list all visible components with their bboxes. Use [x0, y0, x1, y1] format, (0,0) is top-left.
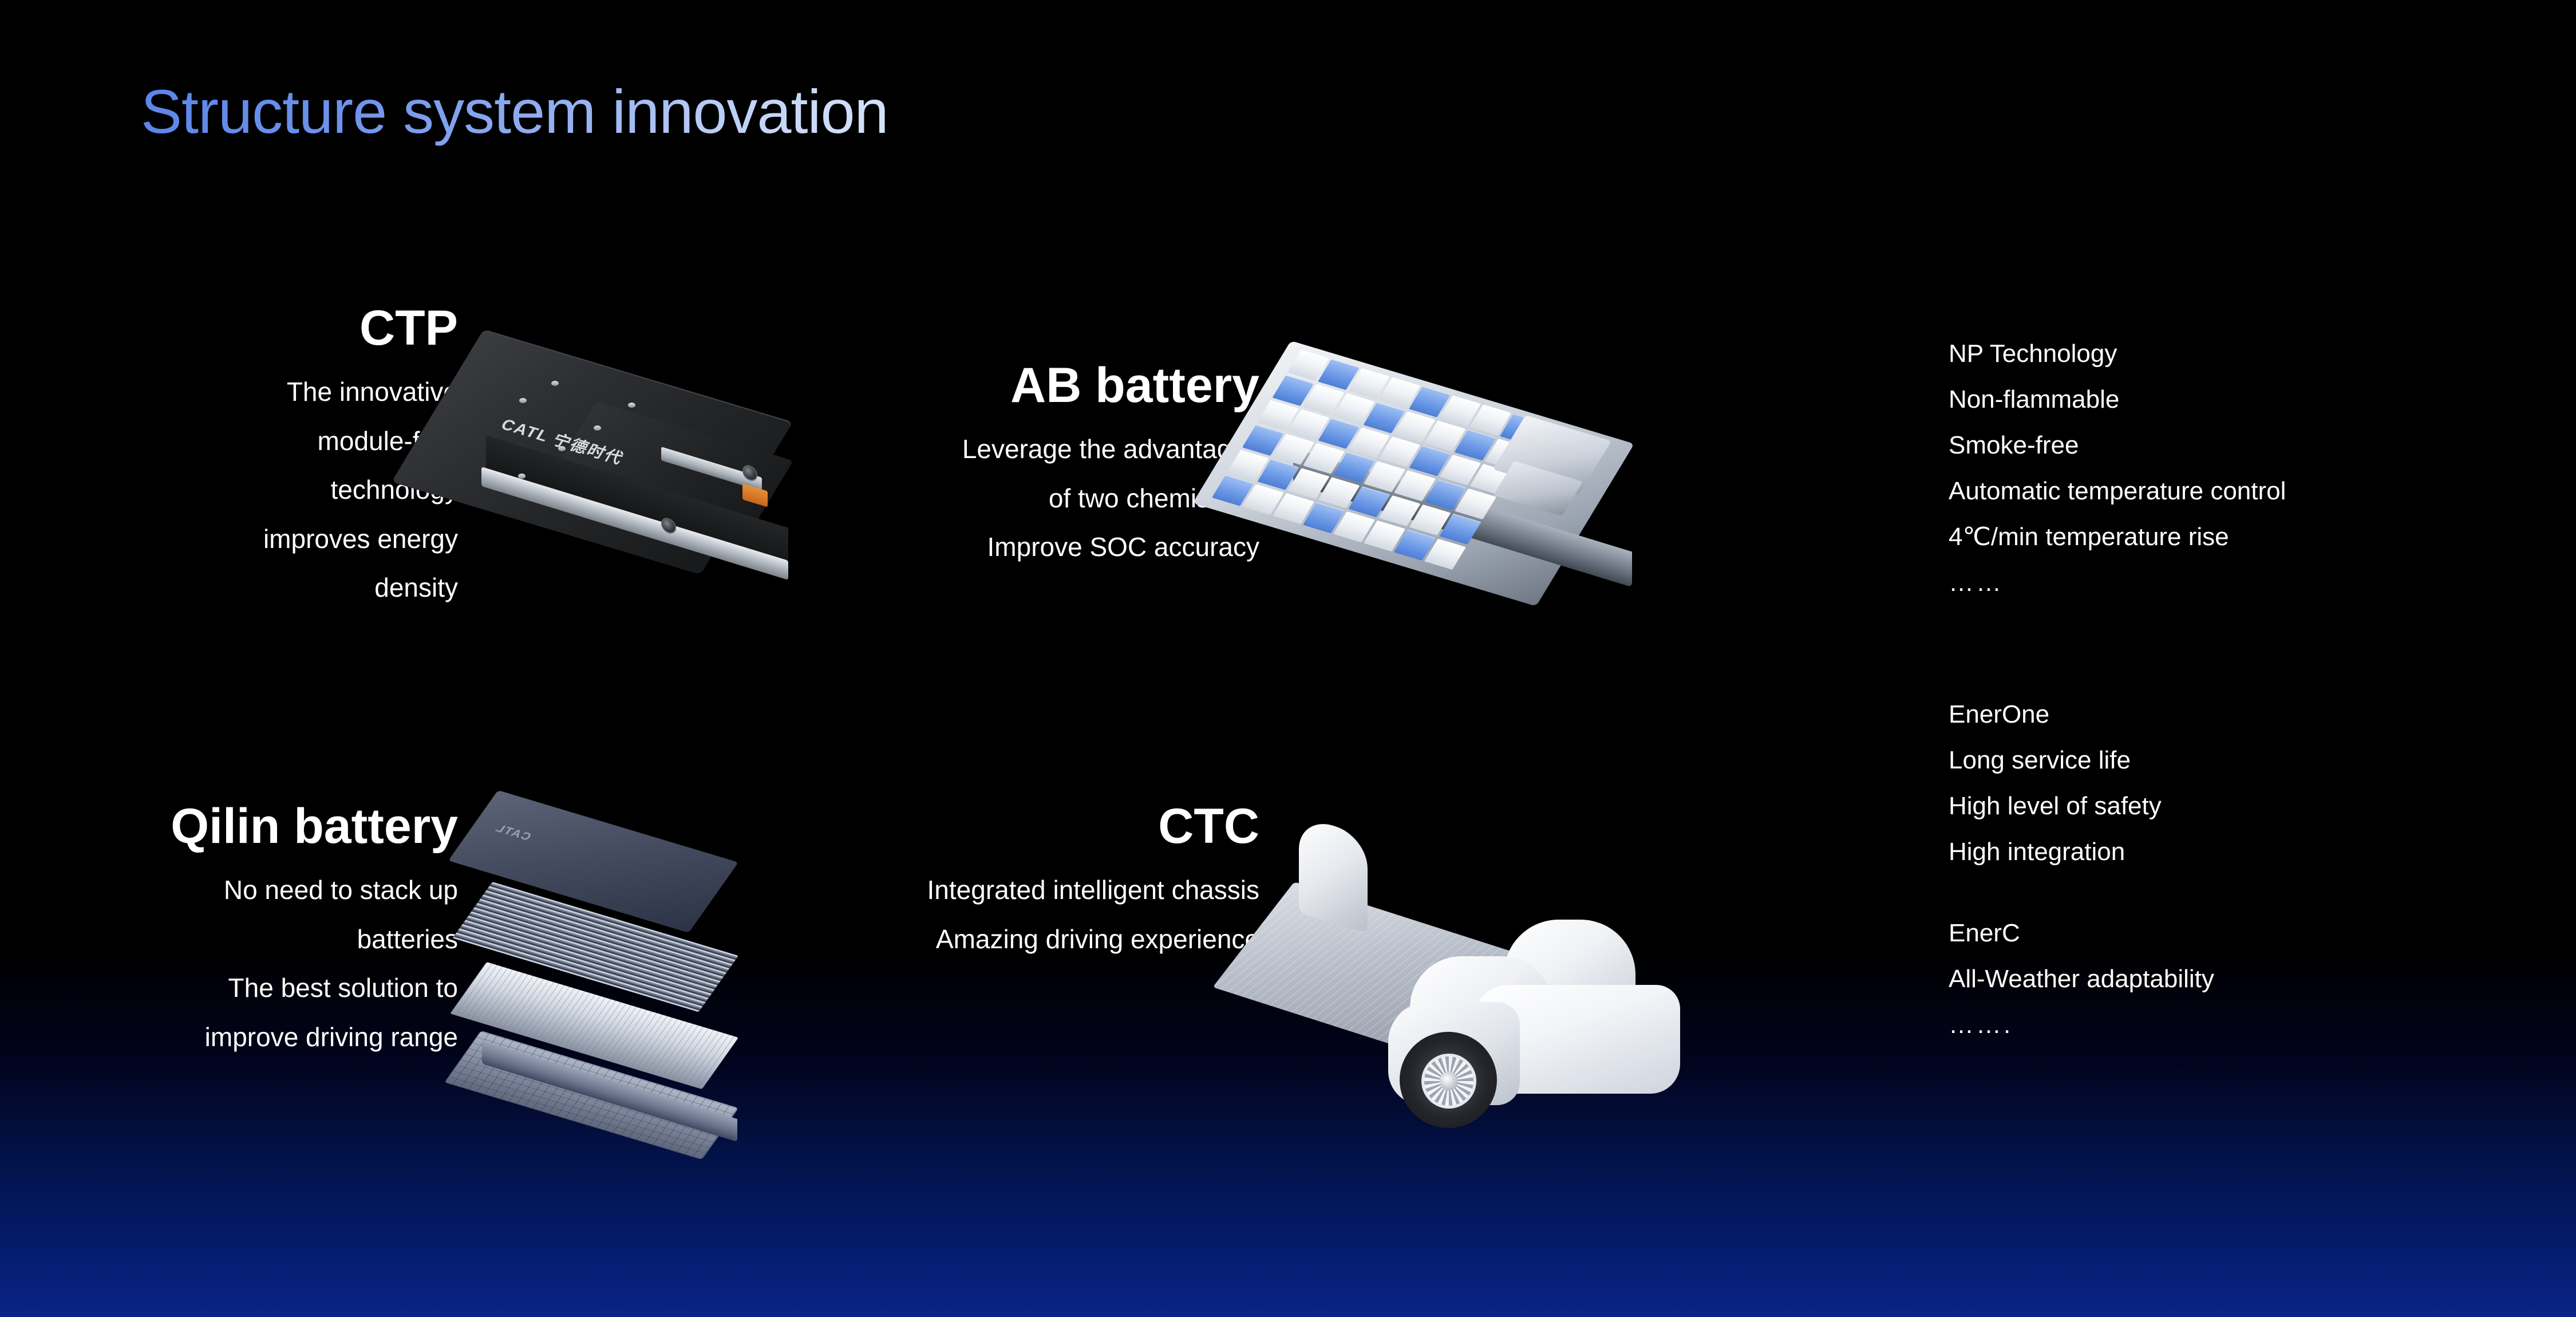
spec-item: Automatic temperature control — [1949, 468, 2286, 514]
spec-item: 4℃/min temperature rise — [1949, 514, 2286, 560]
feature-line: Amazing driving experience — [515, 915, 1259, 964]
feature-line: improve driving range — [0, 1013, 458, 1062]
spec-item: High integration — [1949, 829, 2214, 875]
spec-item: Long service life — [1949, 738, 2214, 783]
ctc-chassis-image — [1285, 813, 1697, 1117]
spec-item: High level of safety — [1949, 783, 2214, 829]
feature-block-qilin-battery: Qilin battery No need to stack up batter… — [0, 802, 458, 1062]
feature-line: density — [0, 563, 458, 613]
feature-block-ctp: CTP The innovative module-free technolog… — [0, 303, 458, 613]
spec-item: NP Technology — [1949, 331, 2286, 377]
spec-list-np-technology: NP Technology Non-flammable Smoke-free A… — [1949, 331, 2286, 606]
feature-lines-ctc: Integrated intelligent chassis Amazing d… — [515, 866, 1259, 964]
feature-line: Integrated intelligent chassis — [515, 866, 1259, 915]
feature-line: of two chemistries — [515, 474, 1259, 523]
feature-heading-ctp: CTP — [0, 303, 458, 353]
spec-list-energy-storage: EnerOne Long service life High level of … — [1949, 692, 2214, 1048]
feature-heading-ab-battery: AB battery — [515, 361, 1259, 410]
spec-group-divider — [1949, 875, 2214, 910]
spec-item: Non-flammable — [1949, 377, 2286, 423]
feature-line: Improve SOC accuracy — [515, 523, 1259, 572]
ab-battery-pack-image — [1285, 318, 1674, 581]
feature-lines-ab-battery: Leverage the advantages of two chemistri… — [515, 425, 1259, 572]
feature-line: Leverage the advantages — [515, 425, 1259, 474]
spec-item: All-Weather adaptability — [1949, 956, 2214, 1002]
spec-group-title-enerone: EnerOne — [1949, 692, 2214, 738]
slide-canvas: Structure system innovation CTP The inno… — [0, 0, 2576, 1317]
wheel-hub-icon — [1440, 1072, 1458, 1090]
feature-block-ctc: CTC Integrated intelligent chassis Amazi… — [515, 802, 1259, 964]
spec-group-title-enerc: EnerC — [1949, 910, 2214, 956]
page-title: Structure system innovation — [141, 76, 888, 147]
feature-line: technology — [0, 466, 458, 515]
feature-lines-qilin-battery: No need to stack up batteries The best s… — [0, 866, 458, 1062]
feature-lines-ctp: The innovative module-free technology im… — [0, 368, 458, 613]
rear-body-pillar — [1299, 816, 1368, 933]
feature-line: The innovative — [0, 368, 458, 417]
feature-line: No need to stack up — [0, 866, 458, 915]
feature-heading-ctc: CTC — [515, 802, 1259, 851]
feature-line: improves energy — [0, 515, 458, 564]
feature-line: The best solution to — [0, 964, 458, 1013]
feature-line: batteries — [0, 915, 458, 964]
spec-item-ellipsis: …… — [1949, 560, 2286, 606]
feature-line: module-free — [0, 417, 458, 466]
feature-block-ab-battery: AB battery Leverage the advantages of tw… — [515, 361, 1259, 572]
spec-item: Smoke-free — [1949, 423, 2286, 468]
spec-item-ellipsis: ……. — [1949, 1002, 2214, 1048]
feature-heading-qilin-battery: Qilin battery — [0, 802, 458, 851]
